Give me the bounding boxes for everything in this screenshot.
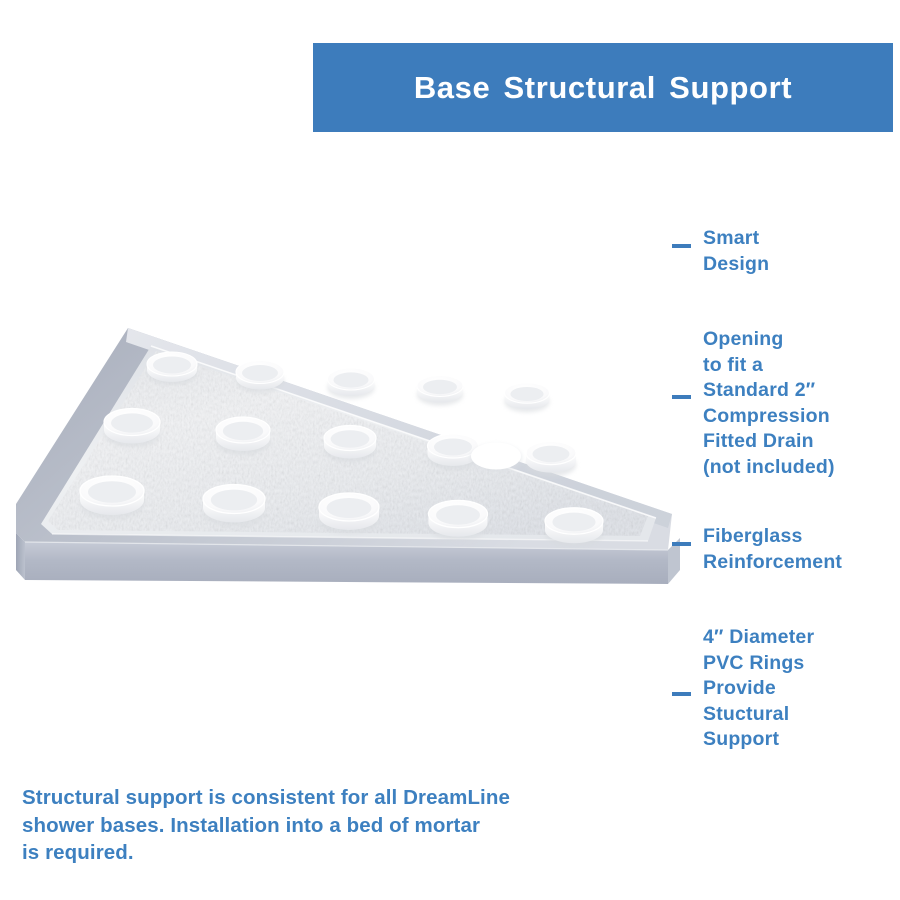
- pvc-ring: [417, 376, 463, 406]
- callout-drain-opening: Opening to fit a Standard 2″ Compression…: [672, 327, 835, 480]
- pvc-ring: [428, 434, 479, 470]
- drain-opening: [470, 443, 522, 473]
- pvc-ring: [216, 417, 270, 455]
- callout-pvc-rings: 4″ Diameter PVC Rings Provide Stuctural …: [672, 625, 814, 753]
- pvc-ring: [429, 500, 488, 540]
- pvc-ring: [319, 493, 379, 534]
- pvc-ring: [203, 485, 265, 527]
- pvc-ring: [236, 361, 284, 393]
- page-title: Base Structural Support: [414, 70, 792, 106]
- pvc-ring: [526, 441, 576, 476]
- title-banner: Base Structural Support: [313, 43, 893, 132]
- callout-label: 4″ Diameter PVC Rings Provide Stuctural …: [703, 625, 814, 753]
- callout-label: Smart Design: [703, 226, 769, 277]
- pvc-ring: [545, 508, 603, 547]
- pvc-ring: [328, 368, 375, 399]
- bottom-caption: Structural support is consistent for all…: [22, 784, 622, 867]
- dash-marker-icon: [672, 542, 691, 546]
- pvc-ring: [104, 409, 160, 448]
- callout-label: Fiberglass Reinforcement: [703, 524, 842, 575]
- dash-marker-icon: [672, 692, 691, 696]
- dash-marker-icon: [672, 244, 691, 248]
- pvc-ring: [324, 426, 376, 463]
- pvc-ring: [80, 476, 144, 519]
- dash-marker-icon: [672, 395, 691, 399]
- pvc-ring: [147, 352, 197, 385]
- product-illustration-shower-base: [8, 318, 698, 603]
- callout-label: Opening to fit a Standard 2″ Compression…: [703, 327, 835, 480]
- callout-fiberglass-reinforcement: Fiberglass Reinforcement: [672, 524, 842, 575]
- callout-smart-design: Smart Design: [672, 226, 769, 277]
- pvc-ring: [505, 383, 550, 412]
